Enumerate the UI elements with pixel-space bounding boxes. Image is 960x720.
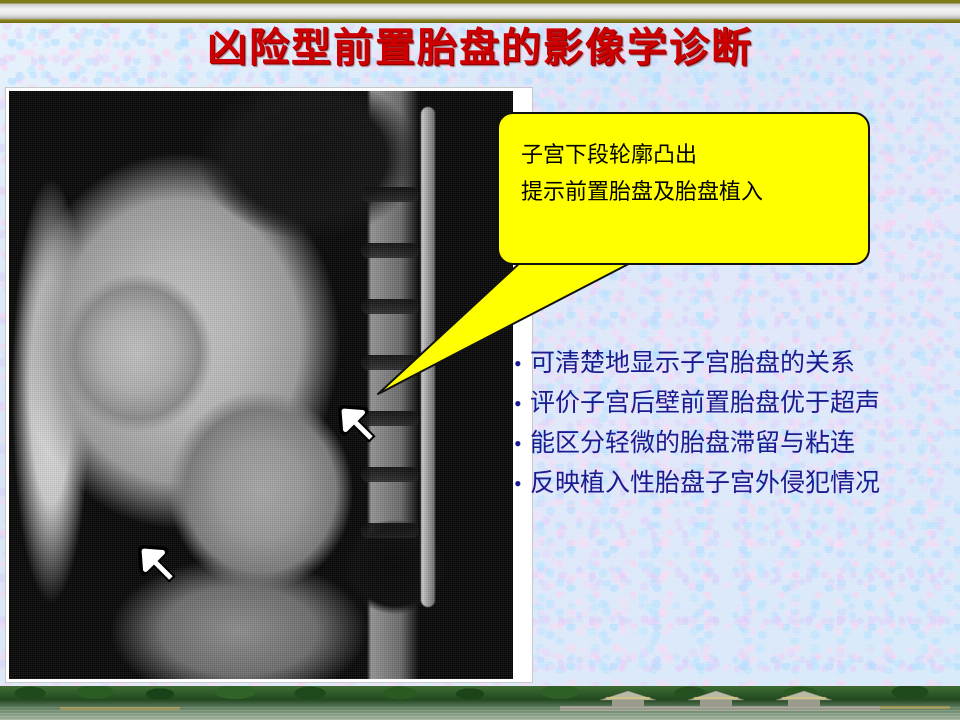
callout-pointer-tail	[0, 0, 960, 720]
callout-line-2: 提示前置胎盘及胎盘植入	[521, 173, 763, 210]
callout-text: 子宫下段轮廓凸出 提示前置胎盘及胎盘植入	[521, 136, 763, 210]
top-decorative-bar	[0, 0, 960, 23]
callout-box[interactable]: 子宫下段轮廓凸出 提示前置胎盘及胎盘植入	[497, 112, 870, 265]
slide-canvas: 子宫下段轮廓凸出 提示前置胎盘及胎盘植入 • 可清楚地显示子宫胎盘的关系 • 评…	[0, 0, 960, 720]
page-title: 凶险型前置胎盘的影像学诊断	[0, 23, 960, 73]
callout-line-1: 子宫下段轮廓凸出	[521, 136, 763, 173]
